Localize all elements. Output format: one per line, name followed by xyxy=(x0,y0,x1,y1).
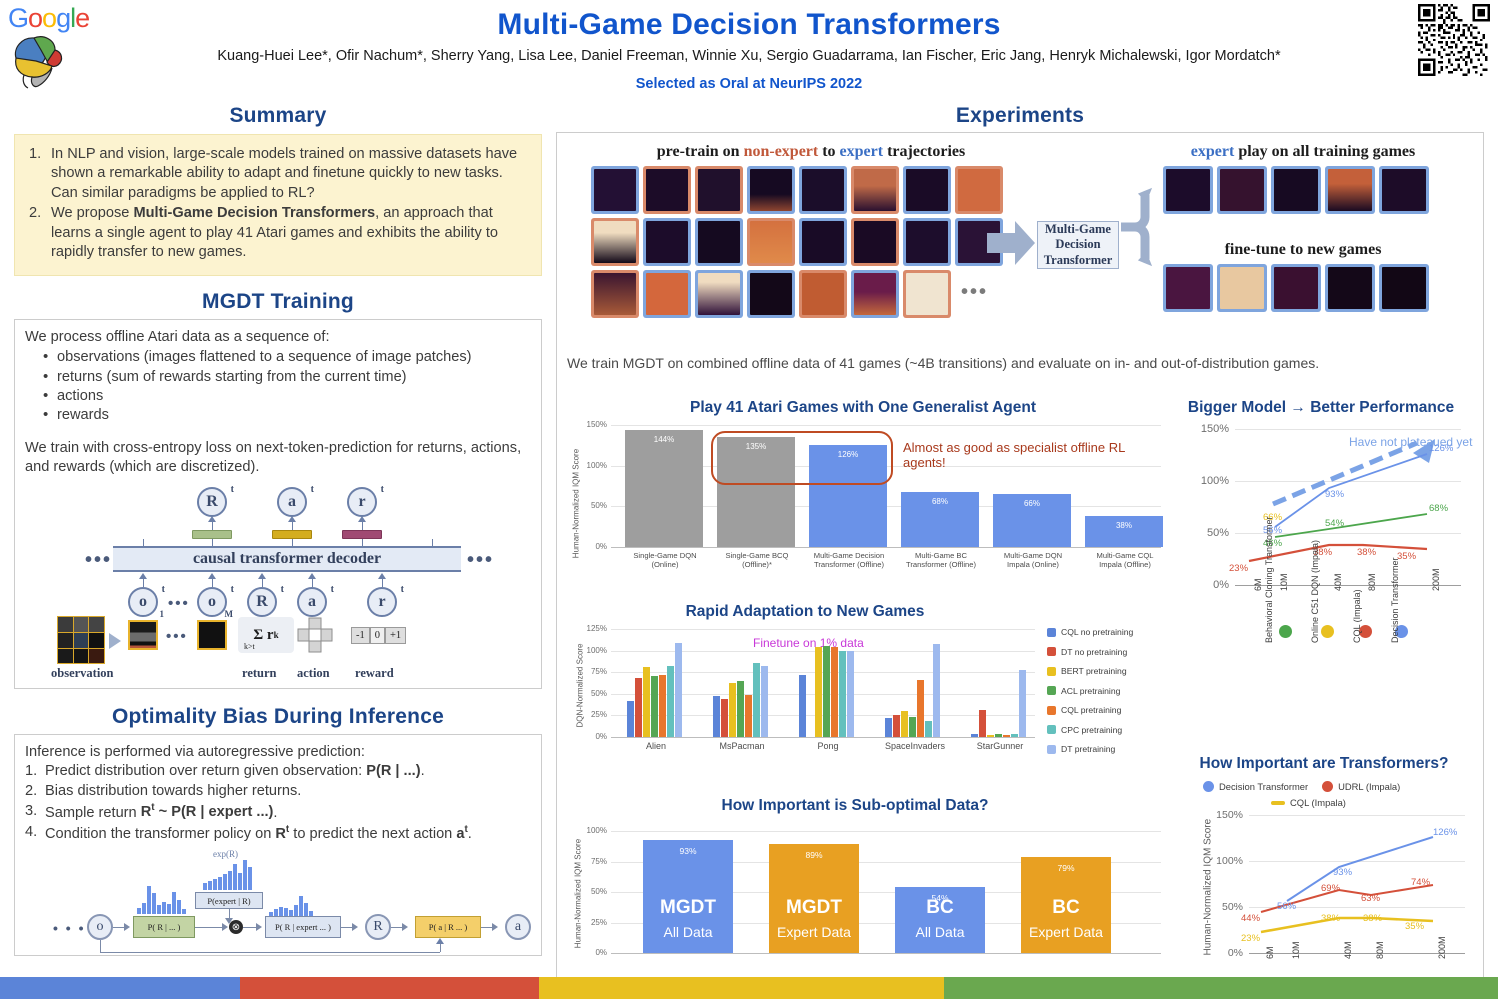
legend-item: DT no pretraining xyxy=(1047,647,1133,657)
list-item: rewards xyxy=(43,406,531,425)
subscript-kgt: k>t xyxy=(244,642,255,651)
ellipsis-inference: • • • xyxy=(53,920,85,936)
game-thumbnail xyxy=(1379,264,1429,312)
legend-label: Decision Transformer xyxy=(1391,553,1401,643)
input-token-R: Rt xyxy=(247,587,277,617)
bar xyxy=(675,643,682,737)
experiments-heading: Experiments xyxy=(556,104,1484,128)
biased-return-bars xyxy=(269,896,313,916)
bar xyxy=(1003,735,1010,737)
chart-suboptimal-data: How Important is Sub-optimal Data? Human… xyxy=(565,797,1165,979)
legend-dot-bc xyxy=(1279,625,1292,638)
y-tick-label: 100% xyxy=(573,826,607,835)
game-thumbnail xyxy=(747,166,795,214)
data-label: 35% xyxy=(1405,921,1424,932)
legend-swatch xyxy=(1047,686,1056,695)
bar xyxy=(979,710,986,737)
page-title: Multi-Game Decision Transformers xyxy=(0,8,1498,42)
box-p-expert-given-return: P(expert | R) xyxy=(195,892,263,909)
summary-bold-term: Multi-Game Decision Transformers xyxy=(133,205,375,221)
ellipsis-right: ••• xyxy=(467,549,494,572)
list-item: Condition the transformer policy on Rt t… xyxy=(25,823,531,844)
legend-swatch xyxy=(1047,647,1056,656)
y-tick-label: 100% xyxy=(573,461,607,470)
legend-swatch xyxy=(1047,745,1056,754)
summary-heading: Summary xyxy=(14,104,542,128)
bar: 79% BC Expert Data xyxy=(1021,857,1111,953)
y-tick-label: 0% xyxy=(573,542,607,551)
stripe-green xyxy=(944,977,1498,999)
bar-subtitle: All Data xyxy=(643,924,733,940)
experiments-note: We train MGDT on combined offline data o… xyxy=(567,355,1319,371)
x-tick-label: 80M xyxy=(1367,573,1377,591)
y-tick-label: 50% xyxy=(573,887,607,896)
chart-rapid-adaptation: Rapid Adaptation to New Games DQN-Normal… xyxy=(565,603,1185,783)
game-thumbnail xyxy=(1163,264,1213,312)
list-item: actions xyxy=(43,387,531,406)
branch-arrows-icon xyxy=(1119,175,1167,279)
mgdt-model-box: Multi-GameDecisionTransformer xyxy=(1037,221,1119,269)
game-thumbnail xyxy=(851,270,899,318)
y-tick-label: 100% xyxy=(573,646,607,655)
author-list: Kuang-Huei Lee*, Ofir Nachum*, Sherry Ya… xyxy=(0,48,1498,64)
x-tick-label: 6M xyxy=(1265,946,1275,959)
chart-annotation: Almost as good as specialist offline RL … xyxy=(903,440,1161,470)
box-p-return-expert: P( R | expert ... ) xyxy=(265,916,341,938)
bar xyxy=(729,683,736,737)
bar xyxy=(893,715,900,737)
bar-title: BC xyxy=(1021,897,1111,919)
data-label: 44% xyxy=(1241,913,1260,924)
game-thumbnail xyxy=(903,270,951,318)
list-item: In NLP and vision, large-scale models tr… xyxy=(27,145,529,203)
bar xyxy=(823,646,830,737)
multiply-icon: ⊗ xyxy=(229,920,243,934)
data-label: 74% xyxy=(1411,877,1430,888)
bar xyxy=(745,695,752,737)
box-p-action: P( a | R ... ) xyxy=(415,916,481,938)
transformers-lines xyxy=(1165,755,1483,965)
bar xyxy=(1011,734,1018,737)
x-tick-label: Multi-Game CQL Impala (Offline) xyxy=(1079,551,1171,569)
patch-first xyxy=(128,620,158,650)
legend-swatch xyxy=(1047,667,1056,676)
x-tick-label: 200M xyxy=(1431,568,1441,591)
mgdt-training-heading: MGDT Training xyxy=(14,290,542,314)
x-tick-label: Multi-Game Decision Transformer (Offline… xyxy=(803,551,895,569)
pretrain-thumbnail-grid xyxy=(591,166,1003,318)
game-thumbnail xyxy=(747,270,795,318)
highlight-outline xyxy=(711,431,893,485)
chart-title: How Important is Sub-optimal Data? xyxy=(565,797,1145,815)
caption-return: return xyxy=(242,666,277,681)
bar xyxy=(815,647,822,737)
qr-code-icon[interactable] xyxy=(1418,4,1490,76)
list-item: Predict distribution over return given o… xyxy=(25,762,531,782)
x-tick-label: Pong xyxy=(793,741,863,752)
y-tick-label: 0% xyxy=(573,732,607,741)
left-column: Summary In NLP and vision, large-scale m… xyxy=(14,104,542,956)
legend-label: Behavioral Cloning Transformer xyxy=(1265,553,1275,643)
chart-legend: CQL no pretraining DT no pretraining BER… xyxy=(1047,627,1133,754)
caption-reward: reward xyxy=(355,666,394,681)
game-thumbnail xyxy=(1271,166,1321,214)
x-tick-label: 10M xyxy=(1279,573,1289,591)
list-item: We propose Multi-Game Decision Transform… xyxy=(27,204,529,262)
optimality-bias-panel: Inference is performed via autoregressiv… xyxy=(14,734,542,956)
game-thumbnail xyxy=(643,270,691,318)
x-tick-label: 10M xyxy=(1291,941,1301,959)
ellipsis-inputs: ••• xyxy=(168,595,190,612)
bar xyxy=(643,667,650,737)
game-thumbnail xyxy=(1379,166,1429,214)
x-tick-label: 6M xyxy=(1253,578,1263,591)
game-thumbnail xyxy=(1271,264,1321,312)
superscript-t: t xyxy=(231,484,234,495)
x-tick-label: Single-Game DQN (Online) xyxy=(619,551,711,569)
x-tick-label: 40M xyxy=(1333,573,1343,591)
caption-observation: observation xyxy=(51,666,114,681)
bar xyxy=(901,711,908,737)
chart-title: Rapid Adaptation to New Games xyxy=(565,603,1045,621)
bar xyxy=(987,735,994,737)
legend-item: CQL pretraining xyxy=(1047,705,1133,715)
legend-item: DT pretraining xyxy=(1047,744,1133,754)
game-thumbnail xyxy=(1163,166,1213,214)
data-label: 38% xyxy=(1321,913,1340,924)
exp-return-bars xyxy=(203,860,252,890)
game-thumbnail xyxy=(695,166,743,214)
stripe-blue xyxy=(0,977,240,999)
bar xyxy=(971,734,978,737)
bar: 66% xyxy=(993,494,1071,547)
bar: 89% MGDT Expert Data xyxy=(769,844,859,953)
input-token-r: rt xyxy=(367,587,397,617)
pretrain-caption: pre-train on non-expert to expert trajec… xyxy=(591,143,1031,161)
bar xyxy=(713,696,720,737)
head-bar-reward xyxy=(342,530,382,539)
reward-cells: -1 0 +1 xyxy=(351,627,406,644)
data-label: 54% xyxy=(1325,518,1344,529)
bar-value-label: 68% xyxy=(901,497,979,506)
game-thumbnail xyxy=(799,166,847,214)
bar: 144% xyxy=(625,430,703,547)
expert-play-caption: expert play on all training games xyxy=(1153,143,1453,161)
legend-swatch xyxy=(1047,628,1056,637)
legend-label: CQL no pretraining xyxy=(1061,627,1133,637)
data-label: 68% xyxy=(1429,503,1448,514)
finetune-caption: fine-tune to new games xyxy=(1153,241,1453,259)
game-thumbnail xyxy=(851,218,899,266)
game-thumbnail xyxy=(591,218,639,266)
bar xyxy=(753,663,760,737)
inference-node-o: o xyxy=(87,914,113,940)
bar: 68% xyxy=(901,492,979,547)
bar: 38% xyxy=(1085,516,1163,547)
bar-value-label: 66% xyxy=(993,499,1071,508)
bar xyxy=(847,651,854,737)
bar xyxy=(737,681,744,737)
chart-play41: Play 41 Atari Games with One Generalist … xyxy=(565,399,1161,597)
y-tick-label: 25% xyxy=(573,710,607,719)
dpad-action-icon xyxy=(297,617,333,653)
x-tick-label: 80M xyxy=(1375,941,1385,959)
patch-last xyxy=(197,620,227,650)
superscript-t: t xyxy=(311,484,314,495)
game-thumbnail xyxy=(591,270,639,318)
finetune-thumbnails xyxy=(1163,264,1429,312)
data-label: 126% xyxy=(1429,443,1453,454)
sigma-r: Σ r xyxy=(253,627,273,644)
output-token-r: rt xyxy=(347,487,377,517)
output-token-a: at xyxy=(277,487,307,517)
chart-annotation: Have not plateaued yet xyxy=(1349,435,1472,449)
data-label: 23% xyxy=(1241,933,1260,944)
head-bar-action xyxy=(272,530,312,539)
legend-item: BERT pretraining xyxy=(1047,666,1133,676)
data-label: 63% xyxy=(1361,893,1380,904)
chart-title: Play 41 Atari Games with One Generalist … xyxy=(565,399,1161,417)
arrow-to-patches xyxy=(109,633,121,649)
x-tick-label: Alien xyxy=(621,741,691,752)
x-tick-label: 200M xyxy=(1437,936,1447,959)
return-distribution-bars xyxy=(137,886,186,914)
pipeline-arrow-icon xyxy=(987,221,1035,265)
bar-value-label: 89% xyxy=(769,850,859,860)
data-label: 38% xyxy=(1363,913,1382,924)
mgdt-intro: We process offline Atari data as a seque… xyxy=(25,328,531,347)
game-thumbnail xyxy=(799,270,847,318)
game-thumbnail xyxy=(1217,166,1267,214)
superscript-k: k xyxy=(274,630,279,640)
stripe-yellow xyxy=(539,977,943,999)
y-tick-label: 50% xyxy=(573,501,607,510)
game-thumbnail xyxy=(695,218,743,266)
bar xyxy=(667,666,674,737)
legend-label: CQL pretraining xyxy=(1061,705,1121,715)
mgdt-architecture-diagram: Rt at rt causal transformer decoder ••• xyxy=(25,483,531,673)
game-thumbnail xyxy=(643,218,691,266)
input-token-a: at xyxy=(297,587,327,617)
game-thumbnail xyxy=(851,166,899,214)
game-thumbnail xyxy=(643,166,691,214)
caption-action: action xyxy=(297,666,330,681)
stripe-red xyxy=(240,977,540,999)
legend-item: CQL no pretraining xyxy=(1047,627,1133,637)
game-thumbnail xyxy=(799,218,847,266)
legend-item: ACL pretraining xyxy=(1047,686,1133,696)
game-thumbnail xyxy=(955,166,1003,214)
data-label: 93% xyxy=(1325,489,1344,500)
y-tick-label: 125% xyxy=(573,624,607,633)
bar-value-label: 144% xyxy=(625,435,703,444)
y-tick-label: 0% xyxy=(573,948,607,957)
inference-intro: Inference is performed via autoregressiv… xyxy=(25,743,531,762)
bar xyxy=(839,651,846,737)
input-token-oM: otM xyxy=(197,587,227,617)
reward-cell-zero: 0 xyxy=(370,627,385,644)
reward-cell-pos: +1 xyxy=(385,627,406,644)
inference-node-a: a xyxy=(505,914,531,940)
head-bar-return xyxy=(192,530,232,539)
poster-root: Google Multi-Game Decision Transformers … xyxy=(0,0,1498,999)
bar xyxy=(721,699,728,737)
game-thumbnail xyxy=(591,166,639,214)
bar xyxy=(659,675,666,737)
venue-badge: Selected as Oral at NeurIPS 2022 xyxy=(0,76,1498,92)
observation-image-grid xyxy=(57,616,105,664)
y-tick-label: 75% xyxy=(573,667,607,676)
expert-play-thumbnails xyxy=(1163,166,1429,214)
legend-label: DT pretraining xyxy=(1061,744,1115,754)
chart-annotation: Finetune on 1% data xyxy=(753,636,864,650)
summary-item-1-text: In NLP and vision, large-scale models tr… xyxy=(51,146,517,201)
chart-transformers-important: How Important are Transformers? Decision… xyxy=(1165,755,1483,985)
game-thumbnail xyxy=(695,270,743,318)
superscript-t: t xyxy=(381,484,384,495)
bar-title: MGDT xyxy=(643,897,733,919)
legend-label: CPC pretraining xyxy=(1061,725,1122,735)
summary-box: In NLP and vision, large-scale models tr… xyxy=(14,134,542,276)
bar xyxy=(1019,670,1026,737)
y-tick-label: 75% xyxy=(573,857,607,866)
bar-value-label: 38% xyxy=(1085,521,1163,530)
bar-value-label: 93% xyxy=(643,846,733,856)
y-tick-label: 50% xyxy=(573,689,607,698)
list-item: Sample return Rt ~ P(R | expert ...). xyxy=(25,802,531,823)
bar-value-label: 79% xyxy=(1021,863,1111,873)
ellipsis-left: ••• xyxy=(85,549,112,572)
list-item: observations (images flattened to a sequ… xyxy=(43,348,531,367)
legend-label: CQL (Impala) xyxy=(1353,553,1363,643)
data-label: 126% xyxy=(1433,827,1457,838)
legend-item: CPC pretraining xyxy=(1047,725,1133,735)
right-column: Experiments pre-train on non-expert to e… xyxy=(556,104,1484,992)
bar-title: BC xyxy=(895,897,985,919)
game-thumbnail xyxy=(1325,264,1375,312)
legend-label: Online C51 DQN (Impala) xyxy=(1311,553,1321,643)
bar-subtitle: Expert Data xyxy=(769,924,859,940)
optimality-bias-heading: Optimality Bias During Inference xyxy=(14,705,542,729)
game-thumbnail xyxy=(903,166,951,214)
bar xyxy=(933,644,940,737)
legend-label: BERT pretraining xyxy=(1061,666,1127,676)
poster-header: Google Multi-Game Decision Transformers … xyxy=(0,0,1498,100)
x-tick-label: StarGunner xyxy=(961,741,1039,752)
legend-label: ACL pretraining xyxy=(1061,686,1120,696)
experiments-panel: pre-train on non-expert to expert trajec… xyxy=(556,132,1484,992)
list-item: Bias distribution towards higher returns… xyxy=(25,782,531,802)
reward-cell-neg: -1 xyxy=(351,627,370,644)
data-label: 56% xyxy=(1277,901,1296,912)
bar xyxy=(925,721,932,737)
bar-subtitle: Expert Data xyxy=(1021,924,1111,940)
legend-label: DT no pretraining xyxy=(1061,647,1127,657)
legend-swatch xyxy=(1047,706,1056,715)
bar xyxy=(761,666,768,737)
bar xyxy=(799,675,806,737)
game-thumbnail xyxy=(1325,166,1375,214)
y-tick-label: 150% xyxy=(573,420,607,429)
inference-node-R: R xyxy=(365,914,391,940)
legend-swatch xyxy=(1047,725,1056,734)
x-tick-label: MsPacman xyxy=(707,741,777,752)
game-thumbnail xyxy=(903,218,951,266)
ellipsis-patches: ••• xyxy=(166,628,188,645)
data-label: 93% xyxy=(1333,867,1352,878)
bar xyxy=(627,701,634,737)
bar xyxy=(831,647,838,737)
bar xyxy=(909,717,916,737)
return-formula: Σ rk k>t xyxy=(238,617,294,653)
causal-transformer-decoder: causal transformer decoder xyxy=(113,546,461,572)
exp-label: exp(R) xyxy=(213,849,238,859)
mgdt-closing: We train with cross-entropy loss on next… xyxy=(25,439,531,477)
data-label: 23% xyxy=(1229,563,1248,574)
y-tick-label: 25% xyxy=(573,918,607,927)
inference-diagram: • • • o P( R | ... ) exp(R) P(expert | R… xyxy=(25,848,531,966)
footer-stripe xyxy=(0,977,1498,999)
bar xyxy=(651,676,658,737)
x-tick-label: SpaceInvaders xyxy=(873,741,957,752)
bar xyxy=(635,678,642,737)
x-tick-label: Single-Game BCQ (Offline)* xyxy=(711,551,803,569)
bar-subtitle: All Data xyxy=(895,924,985,940)
output-token-R: Rt xyxy=(197,487,227,517)
box-p-return: P( R | ... ) xyxy=(133,916,195,938)
bar: 54% BC All Data xyxy=(895,887,985,953)
legend-dot-c51 xyxy=(1321,625,1334,638)
bar xyxy=(917,680,924,737)
bar: 93% MGDT All Data xyxy=(643,840,733,953)
x-tick-label: Multi-Game BC Transformer (Offline) xyxy=(895,551,987,569)
bar xyxy=(885,718,892,737)
list-item: returns (sum of rewards starting from th… xyxy=(43,368,531,387)
bar xyxy=(995,734,1002,737)
x-tick-label: 40M xyxy=(1343,941,1353,959)
game-thumbnail xyxy=(1217,264,1267,312)
x-tick-label: Multi-Game DQN Impala (Online) xyxy=(987,551,1079,569)
ellipsis-thumbnails: ••• xyxy=(961,281,988,304)
data-label: 69% xyxy=(1321,883,1340,894)
chart-bigger-model: Bigger Model → Better Performance 150% 1… xyxy=(1165,399,1477,729)
game-thumbnail xyxy=(747,218,795,266)
mgdt-training-panel: We process offline Atari data as a seque… xyxy=(14,319,542,689)
bar-title: MGDT xyxy=(769,897,859,919)
input-token-o1: ot1 xyxy=(128,587,158,617)
